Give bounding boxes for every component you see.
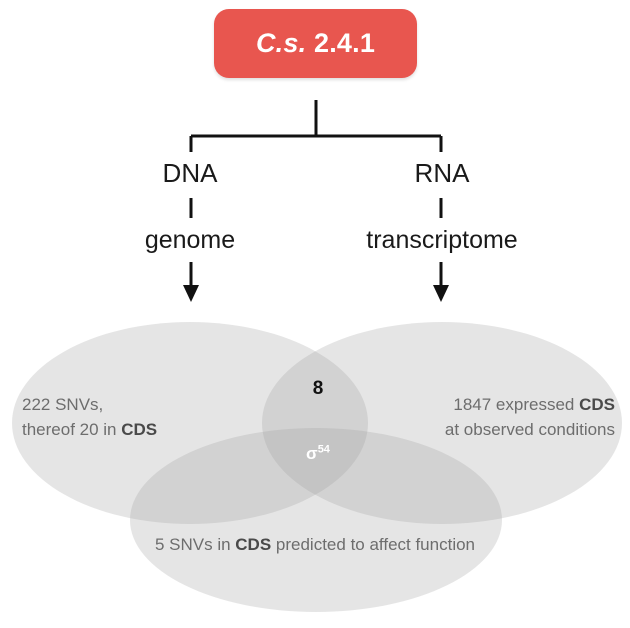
venn-label-left-line2: thereof 20 in CDS [22, 418, 157, 443]
venn-label-left-cds-tag: CDS [121, 420, 157, 439]
venn-label-bottom-post: predicted to affect function [271, 535, 475, 554]
venn-label-bottom: 5 SNVs in CDS predicted to affect functi… [150, 533, 480, 558]
venn-label-bottom-pre: 5 SNVs in [155, 535, 235, 554]
venn-label-left-line1: 222 SNVs, [22, 393, 157, 418]
venn-label-right-line1: 1847 expressed CDS [400, 393, 615, 418]
venn-label-right: 1847 expressed CDS at observed condition… [400, 393, 615, 442]
venn-intersection-sigma54: σ54 [288, 444, 348, 464]
venn-label-bottom-cds-tag: CDS [235, 535, 271, 554]
venn-intersection-count-top: 8 [288, 378, 348, 400]
sigma-symbol: σ [306, 444, 318, 463]
sigma-superscript: 54 [318, 443, 330, 455]
venn-label-left: 222 SNVs, thereof 20 in CDS [22, 393, 157, 442]
venn-label-left-line2-pre: thereof 20 in [22, 420, 121, 439]
venn-label-right-cds-tag: CDS [579, 395, 615, 414]
venn-label-right-line1-pre: 1847 expressed [453, 395, 579, 414]
venn-label-right-line2: at observed conditions [400, 418, 615, 443]
